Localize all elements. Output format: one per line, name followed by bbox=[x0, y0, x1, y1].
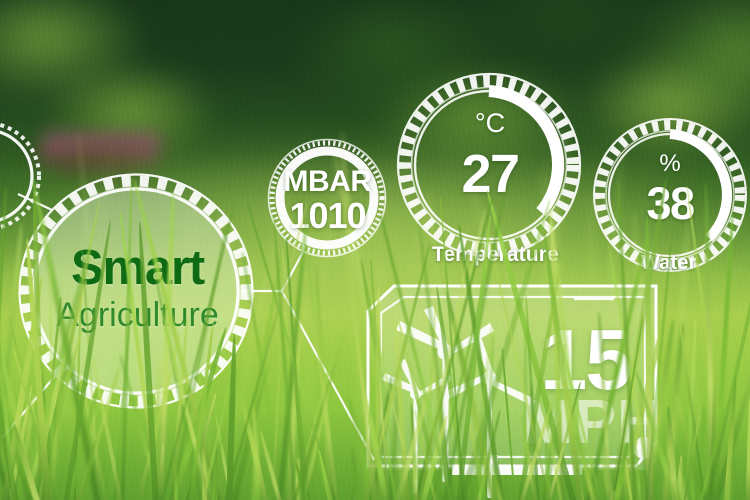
water-unit-label: % bbox=[630, 150, 710, 178]
water-value: 38 bbox=[630, 178, 710, 230]
dashboard-scene: MBAR 1010 °C 27 Temperature % 38 Water S… bbox=[0, 0, 750, 500]
temperature-unit-label: °C bbox=[445, 108, 535, 139]
pressure-value: 1010 bbox=[275, 195, 380, 237]
pressure-unit-label: MBAR bbox=[275, 165, 380, 199]
